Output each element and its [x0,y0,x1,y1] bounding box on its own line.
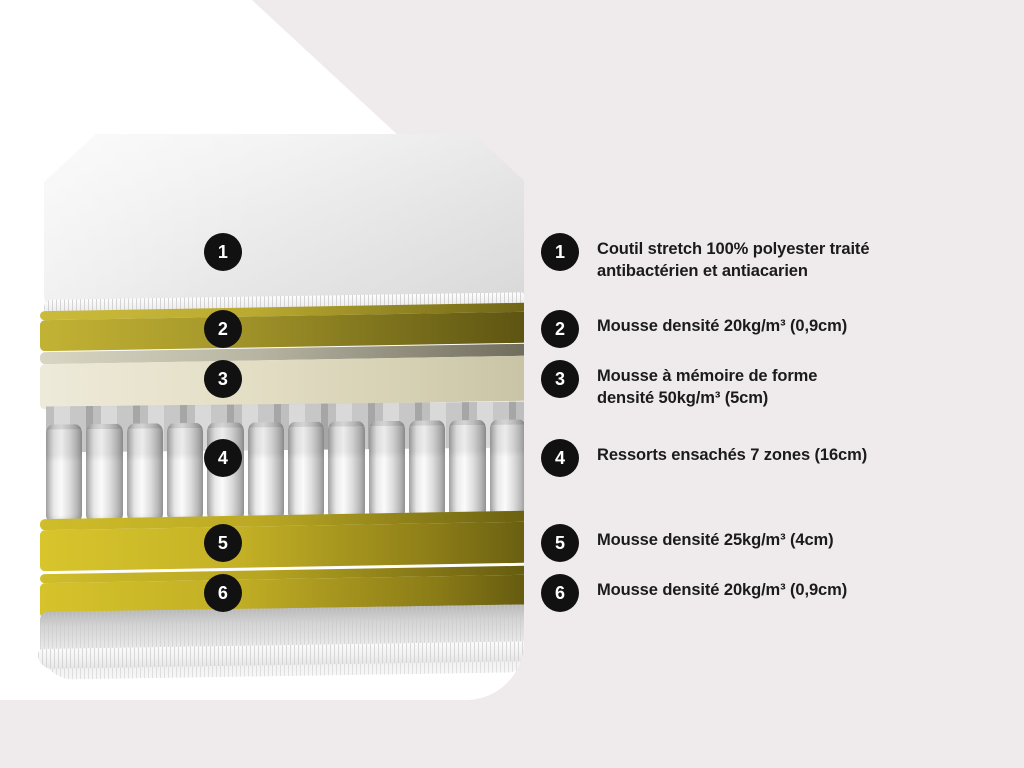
legend-badge-3: 3 [541,360,579,398]
mattress-badge-3[interactable]: 3 [204,360,242,398]
spring-pocket [409,420,445,519]
mattress-badge-2[interactable]: 2 [204,310,242,348]
mattress-layer-3-memory-foam [40,344,524,409]
legend-label-5: Mousse densité 25kg/m³ (4cm) [597,524,834,552]
legend-item-1[interactable]: 1 Coutil stretch 100% polyester traité a… [541,233,957,283]
mattress-layer-2-foam [40,303,524,351]
spring-pocket [449,420,485,519]
mattress-badge-4[interactable]: 4 [204,439,242,477]
legend-item-4[interactable]: 4 Ressorts ensachés 7 zones (16cm) [541,439,867,477]
spring-pocket [46,424,82,523]
spring-pocket [490,419,524,518]
legend-label-1: Coutil stretch 100% polyester traité ant… [597,233,957,283]
legend-label-6: Mousse densité 20kg/m³ (0,9cm) [597,574,847,602]
mattress-badge-6[interactable]: 6 [204,574,242,612]
layer-3-front-face [40,356,524,409]
spring-pocket [328,421,364,520]
infographic-canvas: 1 2 3 4 5 6 1 Coutil stretch 100% polyes… [0,0,1024,768]
springs-front-row [46,419,524,523]
legend-badge-2: 2 [541,310,579,348]
legend-badge-5: 5 [541,524,579,562]
legend-badge-1: 1 [541,233,579,271]
legend-label-4: Ressorts ensachés 7 zones (16cm) [597,439,867,467]
legend-item-3[interactable]: 3 Mousse à mémoire de forme densité 50kg… [541,360,847,410]
legend-badge-4: 4 [541,439,579,477]
legend-item-5[interactable]: 5 Mousse densité 25kg/m³ (4cm) [541,524,834,562]
legend-label-2: Mousse densité 20kg/m³ (0,9cm) [597,310,847,338]
mattress-illustration: 1 2 3 4 5 6 [0,0,524,700]
mattress-layer-5-foam [40,511,524,571]
legend-list: 1 Coutil stretch 100% polyester traité a… [541,0,1001,768]
spring-pocket [288,422,324,521]
legend-item-6[interactable]: 6 Mousse densité 20kg/m³ (0,9cm) [541,574,847,612]
spring-pocket [369,421,405,520]
legend-badge-6: 6 [541,574,579,612]
mattress-badge-1[interactable]: 1 [204,233,242,271]
spring-pocket [167,423,203,522]
mattress-badge-5[interactable]: 5 [204,524,242,562]
spring-pocket [248,422,284,521]
spring-pocket [127,423,163,522]
mattress-layer-1-top-cover [44,130,524,305]
legend-item-2[interactable]: 2 Mousse densité 20kg/m³ (0,9cm) [541,310,847,348]
legend-label-3: Mousse à mémoire de forme densité 50kg/m… [597,360,847,410]
spring-pocket [86,424,122,523]
mattress-layer-4-pocket-springs [46,401,524,523]
top-cover-sheen [44,130,524,305]
layer-5-front-face [40,522,524,571]
